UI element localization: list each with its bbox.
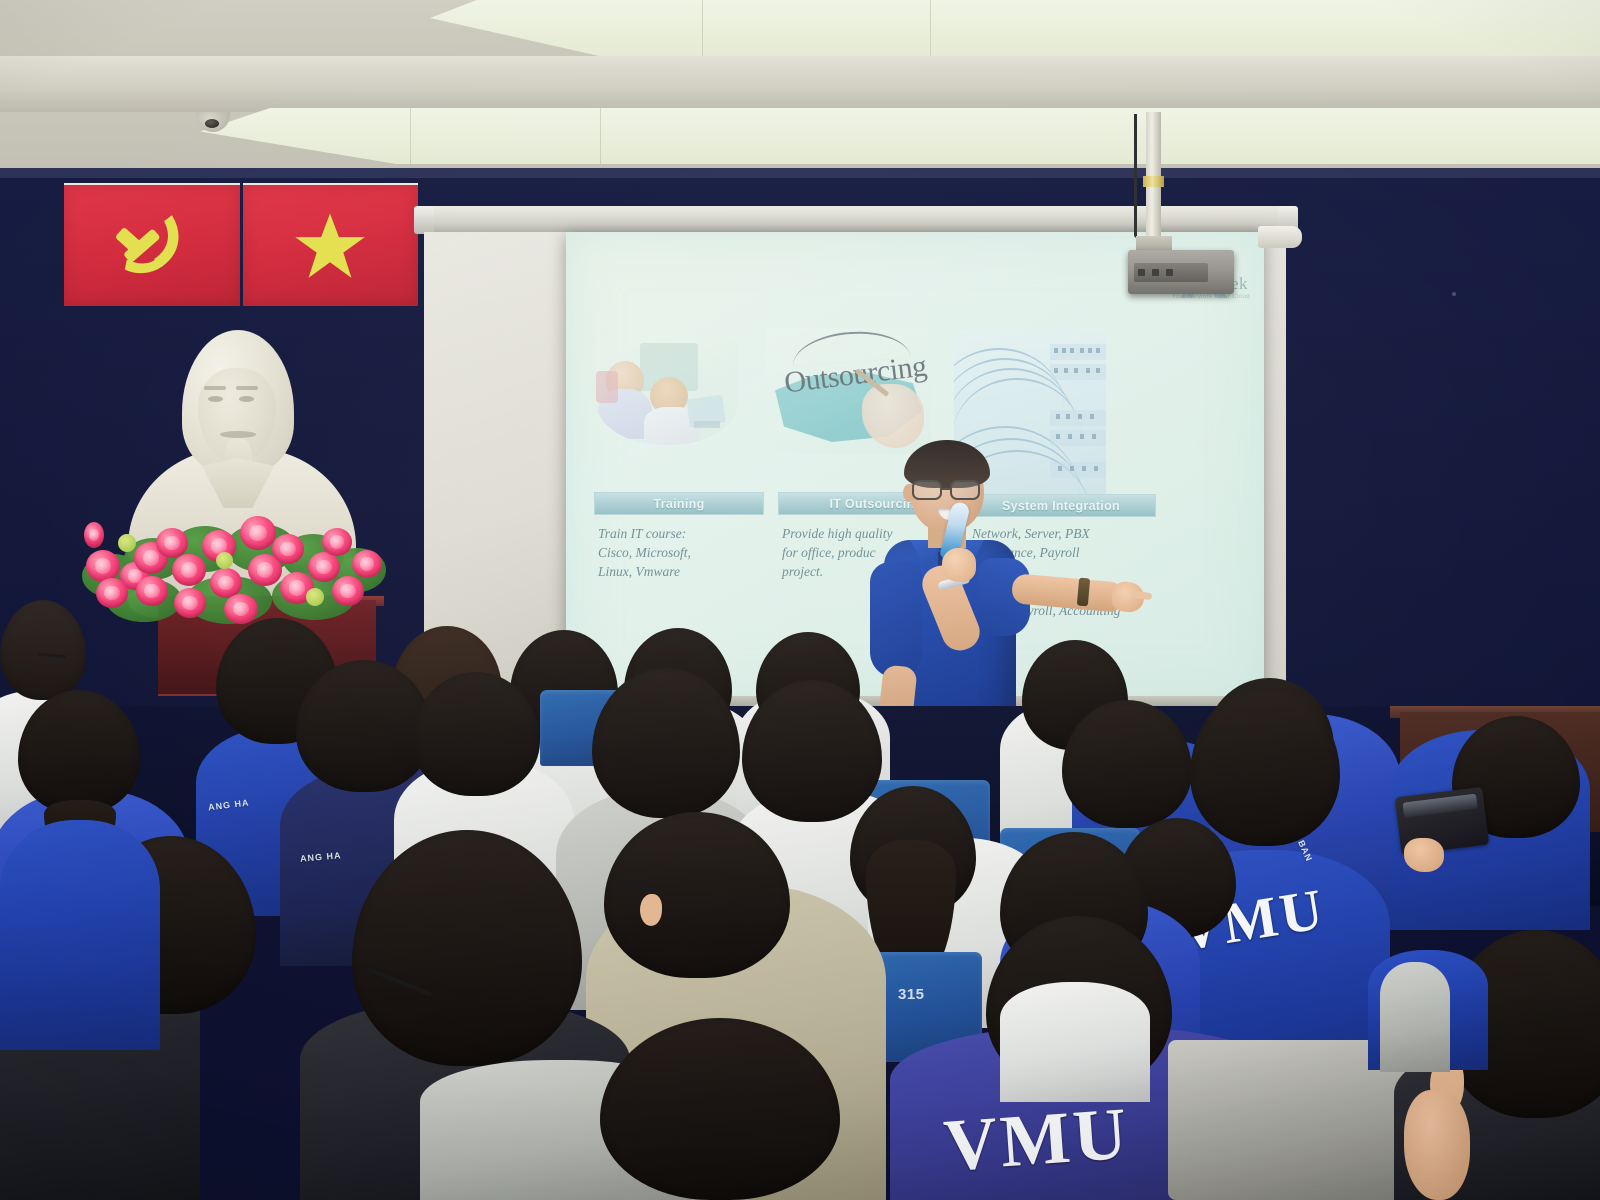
jacket-text-vmu: VMU	[941, 1092, 1132, 1190]
seat-number-label: 315	[898, 986, 925, 1003]
audience-head	[1062, 700, 1192, 828]
audience-member	[1000, 982, 1150, 1102]
auditorium-seminar-photo: e Tek Your Network - Our Cloud Outsourci…	[0, 0, 1600, 1200]
audience-head	[18, 690, 140, 814]
hand	[1404, 1090, 1470, 1200]
hand	[1404, 838, 1444, 872]
audience: ANG HA ANG HA	[0, 0, 1600, 1200]
ear	[640, 894, 662, 926]
audience-member	[0, 820, 160, 1050]
audience-member	[1380, 962, 1450, 1072]
audience-head	[0, 600, 86, 700]
